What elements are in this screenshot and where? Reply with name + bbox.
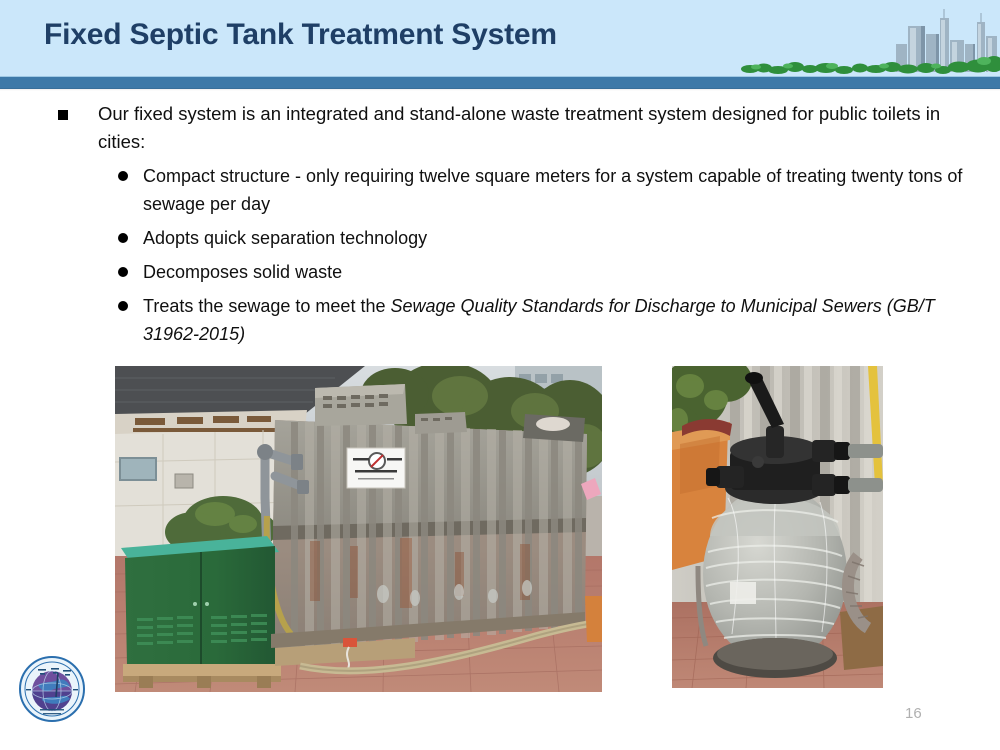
bullet-item-1: Compact structure - only requiring twelv… (0, 162, 1000, 218)
photo-septic-tank-container (115, 366, 602, 692)
company-seal-logo (18, 655, 86, 723)
header-shadow (0, 88, 1000, 91)
bullet-item-2-text: Adopts quick separation technology (143, 228, 427, 248)
bullet-item-2: Adopts quick separation technology (0, 224, 1000, 252)
round-bullet-icon (118, 267, 128, 277)
page-number: 16 (905, 705, 922, 722)
round-bullet-icon (118, 301, 128, 311)
photo-sand-filter-vessel (672, 366, 883, 688)
bullet-item-3: Decomposes solid waste (0, 258, 1000, 286)
city-skyline-graphic (740, 0, 1000, 76)
bullet-item-1-text: Compact structure - only requiring twelv… (143, 166, 962, 214)
bullet-item-4-text: Treats the sewage to meet the (143, 296, 390, 316)
bullet-lead-text: Our fixed system is an integrated and st… (98, 103, 940, 152)
slide-body: Our fixed system is an integrated and st… (0, 100, 1000, 354)
square-bullet-icon (58, 110, 68, 120)
round-bullet-icon (118, 171, 128, 181)
bullet-item-4: Treats the sewage to meet the Sewage Qua… (0, 292, 1000, 348)
bullet-lead: Our fixed system is an integrated and st… (0, 100, 1000, 156)
bullet-item-3-text: Decomposes solid waste (143, 262, 342, 282)
page-title: Fixed Septic Tank Treatment System (44, 18, 557, 52)
round-bullet-icon (118, 233, 128, 243)
slide-header: Fixed Septic Tank Treatment System (0, 0, 1000, 76)
